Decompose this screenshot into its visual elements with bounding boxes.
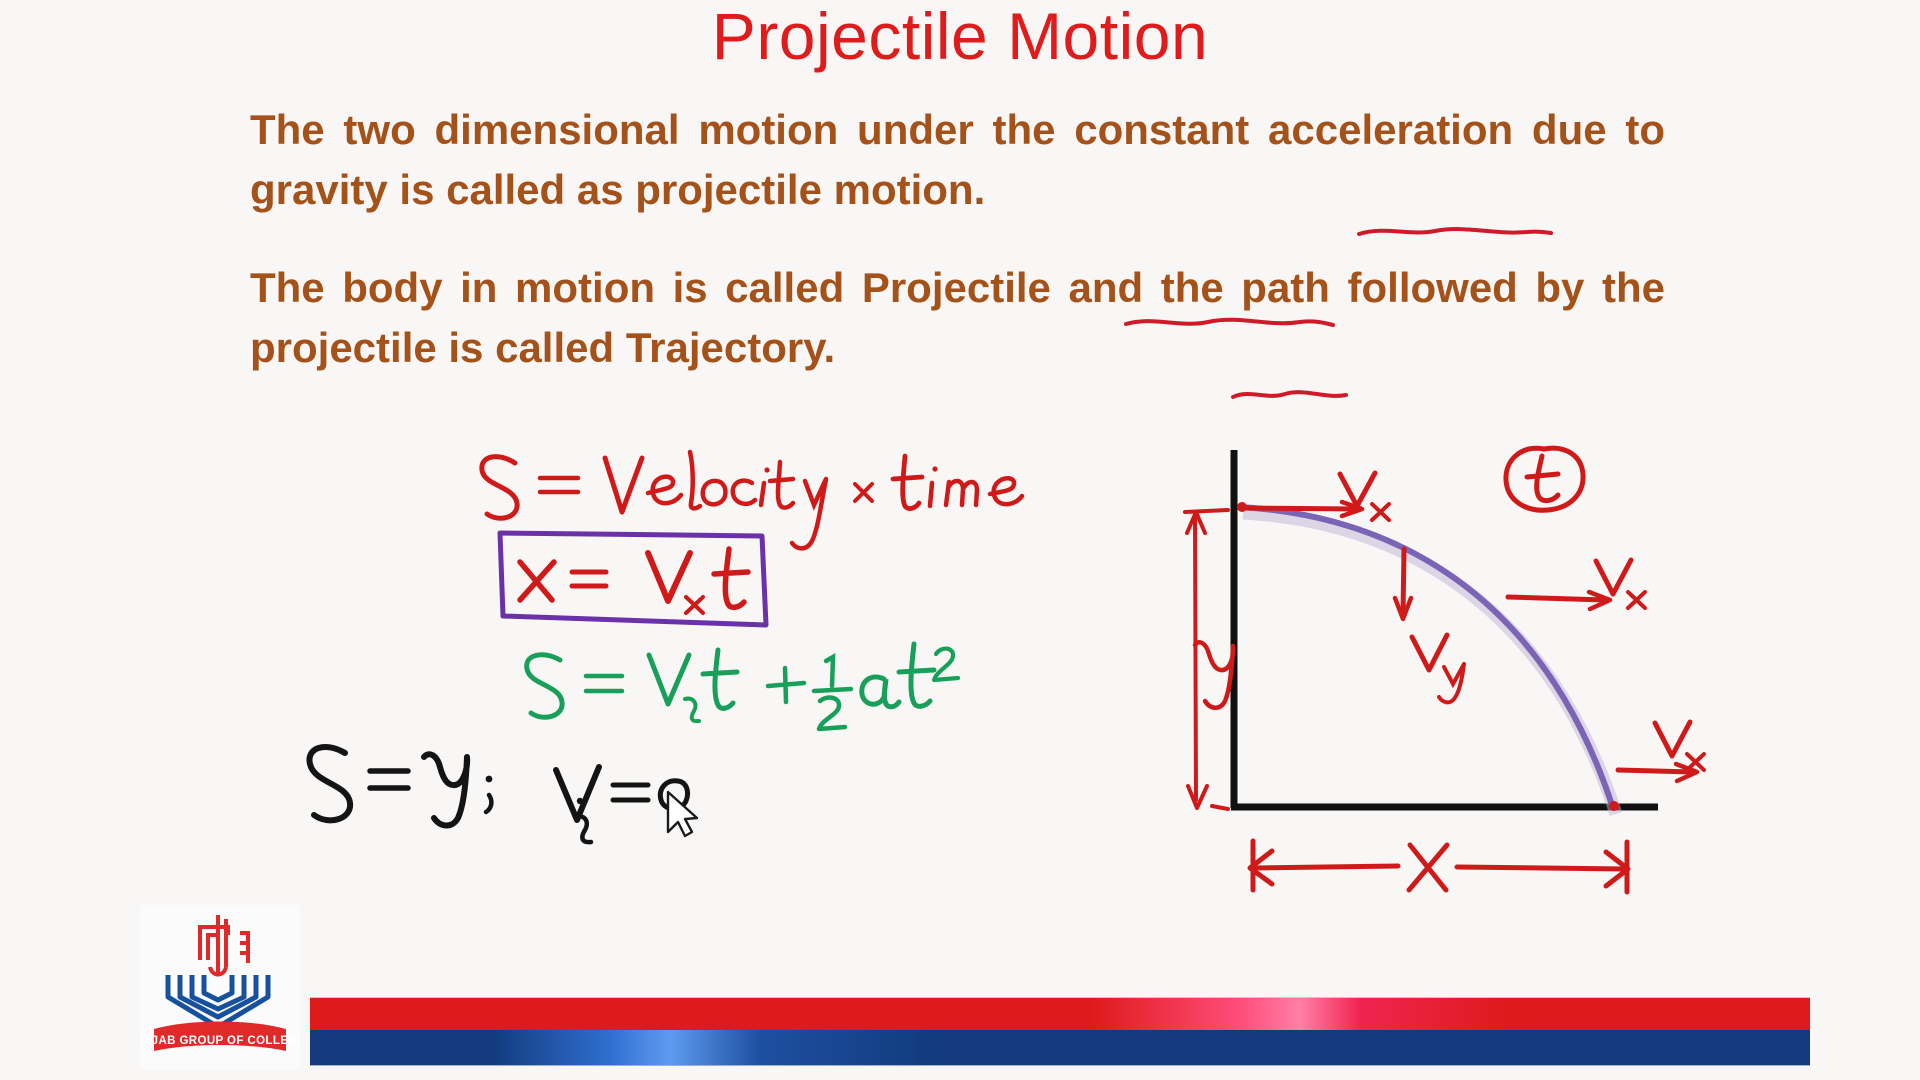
- underline-squiggle-trajectory: [1230, 385, 1350, 407]
- label-time-circled: [1506, 448, 1583, 510]
- label-vx-bottom: [1655, 722, 1704, 770]
- label-vy: [1412, 635, 1464, 702]
- vector-vx-bottom: [1618, 764, 1697, 781]
- label-y: [1195, 642, 1233, 708]
- paragraph-terminology-text: The body in motion is called Projectile …: [250, 264, 1665, 371]
- measure-y-height: [1185, 510, 1228, 809]
- paragraph-terminology: The body in motion is called Projectile …: [250, 258, 1665, 377]
- label-vx-top: [1340, 473, 1389, 520]
- equation-kinematic: [527, 644, 958, 729]
- equation-distance: [482, 452, 1022, 548]
- label-vx-middle: [1596, 560, 1645, 608]
- trajectory-curve: [1240, 507, 1613, 808]
- equation-substitution: [309, 747, 687, 842]
- vector-vx-top: [1244, 502, 1362, 516]
- footer-bar-blue: [310, 1030, 1810, 1066]
- vector-vy: [1395, 549, 1411, 619]
- measure-x-range: [1250, 841, 1628, 892]
- projectile-trajectory-diagram: [1185, 448, 1704, 892]
- mouse-cursor: [668, 792, 697, 836]
- slide-canvas: Projectile Motion The two dimensional mo…: [0, 0, 1920, 1080]
- punjab-group-logo: PUNJAB GROUP OF COLLEGES: [140, 905, 300, 1070]
- paragraph-definition-text: The two dimensional motion under the con…: [250, 106, 1665, 213]
- equation-horizontal-boxed: [500, 533, 766, 625]
- label-x-range: [1409, 845, 1447, 890]
- footer-bars: [310, 997, 1810, 1065]
- logo-text: PUNJAB GROUP OF COLLEGES: [140, 1035, 300, 1047]
- paragraph-definition: The two dimensional motion under the con…: [250, 100, 1665, 219]
- page-title: Projectile Motion: [0, 0, 1920, 74]
- footer-bar-red: [310, 997, 1810, 1031]
- vector-vx-middle: [1508, 592, 1610, 609]
- underline-squiggle-motion: [1355, 222, 1555, 244]
